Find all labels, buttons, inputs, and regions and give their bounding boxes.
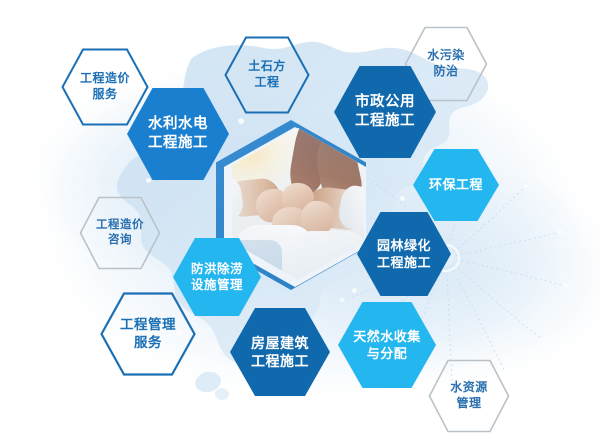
hex-label-line: 土石方: [248, 59, 286, 75]
hex-label-line: 房屋建筑: [251, 334, 309, 352]
hex-label-line: 市政公用: [355, 93, 415, 112]
hex-label-line: 水污染: [427, 48, 465, 64]
hex-label-line: 水资源: [450, 380, 488, 396]
hex-engineering-cost-consulting[interactable]: 工程造价 咨询: [79, 196, 161, 270]
hex-engineering-management-service[interactable]: 工程管理 服务: [100, 292, 196, 376]
hex-label-line: 工程造价: [96, 218, 144, 233]
bokeh-dot: [238, 118, 244, 124]
bokeh-dot: [352, 288, 357, 293]
hex-label-line: 天然水收集: [353, 328, 421, 345]
bokeh-dot: [276, 412, 281, 417]
bokeh-dot: [400, 196, 405, 201]
hex-label-line: 环保工程: [429, 176, 483, 193]
hex-label-line: 咨询: [108, 233, 132, 248]
hex-label-line: 管理: [456, 396, 481, 412]
hex-label-line: 工程施工: [355, 112, 415, 131]
hex-label-line: 工程造价: [80, 71, 130, 87]
hex-water-resources-management[interactable]: 水资源 管理: [428, 359, 510, 433]
hex-label-line: 工程管理: [120, 316, 176, 334]
hex-label-line: 工程施工: [251, 352, 309, 370]
hex-engineering-cost-service[interactable]: 工程造价 服务: [61, 48, 149, 126]
hex-label-line: 工程施工: [148, 134, 208, 153]
hex-label-line: 服务: [134, 334, 162, 352]
hex-label-line: 防治: [433, 64, 458, 80]
hex-label-line: 工程施工: [377, 254, 431, 271]
hex-label-line: 园林绿化: [377, 237, 431, 254]
bokeh-dot: [146, 178, 151, 183]
hex-label-line: 与分配: [367, 345, 408, 362]
hex-label-line: 设施管理: [191, 277, 243, 294]
hex-label-line: 水利水电: [148, 115, 208, 134]
hex-label-line: 防洪除涝: [191, 261, 243, 278]
hex-earthwork-engineering[interactable]: 土石方 工程: [224, 36, 310, 114]
hexagon-capability-diagram: 工程造价 服务 土石方 工程 水利水电 工程施工 市政公用 工程施工 水污染 防…: [0, 0, 600, 439]
hex-label-line: 服务: [92, 87, 117, 103]
hex-label-line: 工程: [254, 75, 279, 91]
